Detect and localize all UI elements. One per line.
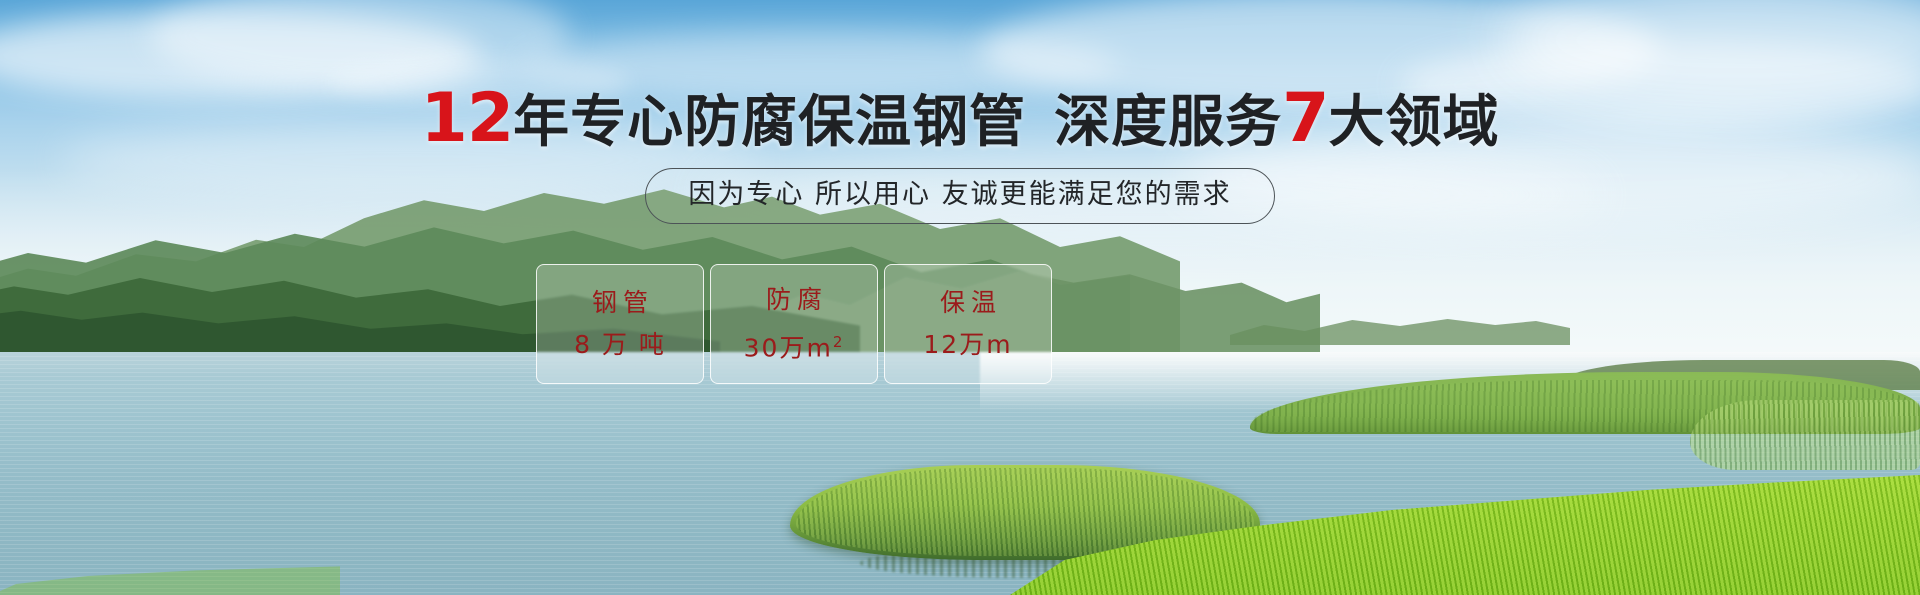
headline-text-secondary: 深度服务 (1054, 90, 1282, 155)
stat-value-number: 30 (744, 333, 780, 362)
stat-label: 钢管 (586, 289, 654, 317)
stat-card-steel-pipe[interactable]: 钢管 8 万 吨 (536, 264, 704, 384)
banner-subtitle-wrapper: 因为专心 所以用心 友诚更能满足您的需求 (0, 168, 1920, 224)
stat-value-unit: 万m (779, 333, 832, 362)
hero-banner: 12年专心防腐保温钢管深度服务7大领域 因为专心 所以用心 友诚更能满足您的需求… (0, 0, 1920, 595)
banner-subtitle-pill: 因为专心 所以用心 友诚更能满足您的需求 (645, 168, 1274, 224)
stat-label: 防腐 (760, 286, 828, 314)
headline-text-tertiary: 大领域 (1328, 90, 1499, 155)
stat-value-text: 8 万 吨 (574, 330, 666, 359)
stat-card-insulation[interactable]: 保温 12万m (884, 264, 1052, 384)
headline-fields-number: 7 (1282, 79, 1328, 158)
stat-card-anticorrosion[interactable]: 防腐 30万m2 (710, 264, 878, 384)
stat-value: 8 万 吨 (574, 331, 666, 359)
stat-value-superscript: 2 (833, 333, 845, 351)
headline-years-number: 12 (421, 79, 514, 158)
stat-value: 12万m (923, 331, 1012, 359)
headline-text-primary: 年专心防腐保温钢管 (513, 90, 1026, 155)
stat-value-unit: 万m (959, 330, 1012, 359)
stat-label: 保温 (934, 289, 1002, 317)
stat-value: 30万m2 (744, 328, 845, 362)
banner-content: 12年专心防腐保温钢管深度服务7大领域 因为专心 所以用心 友诚更能满足您的需求… (0, 0, 1920, 595)
stat-value-number: 12 (923, 330, 959, 359)
stats-card-group: 钢管 8 万 吨 防腐 30万m2 保温 12万m (536, 264, 1052, 384)
banner-headline: 12年专心防腐保温钢管深度服务7大领域 (0, 86, 1920, 156)
